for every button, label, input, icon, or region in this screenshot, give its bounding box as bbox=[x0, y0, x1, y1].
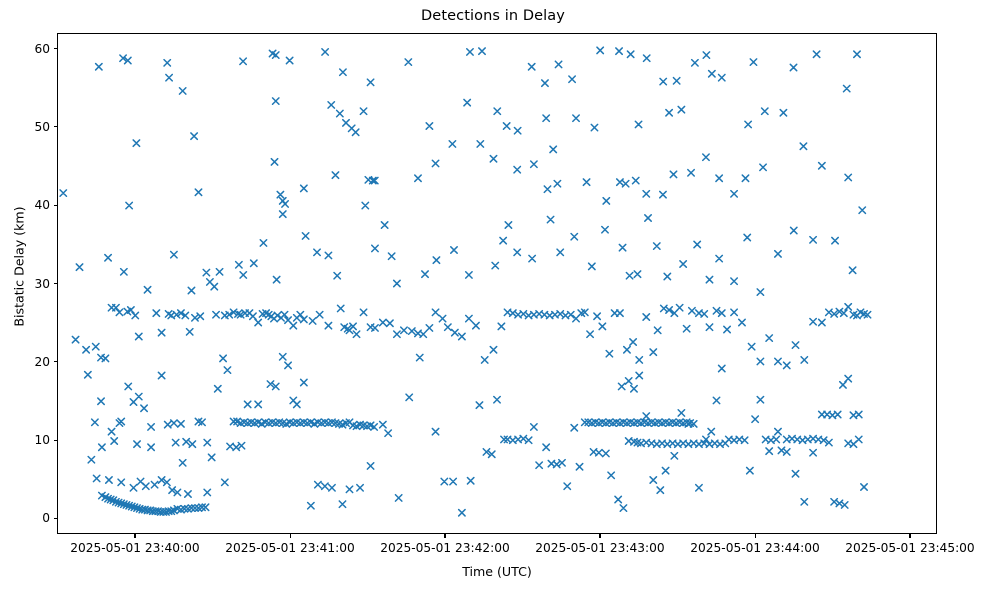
y-tick-mark bbox=[54, 48, 58, 49]
y-tick-mark bbox=[54, 205, 58, 206]
x-tick-label: 2025-05-01 23:41:00 bbox=[225, 540, 354, 556]
x-tick-label: 2025-05-01 23:40:00 bbox=[70, 540, 199, 556]
scatter-points-group bbox=[60, 47, 871, 516]
x-tick-mark bbox=[290, 534, 291, 538]
x-tick-label: 2025-05-01 23:43:00 bbox=[535, 540, 664, 556]
y-axis-label: Bistatic Delay (km) bbox=[12, 137, 27, 397]
x-tick-label: 2025-05-01 23:45:00 bbox=[845, 540, 974, 556]
x-tick-label: 2025-05-01 23:44:00 bbox=[690, 540, 819, 556]
y-tick-mark bbox=[54, 440, 58, 441]
y-tick-label: 40 bbox=[34, 196, 50, 214]
x-tick-mark bbox=[444, 534, 445, 538]
y-tick-label: 10 bbox=[34, 431, 50, 449]
scatter-marker-layer bbox=[58, 34, 936, 533]
y-tick-label: 0 bbox=[42, 509, 50, 527]
x-tick-label: 2025-05-01 23:42:00 bbox=[380, 540, 509, 556]
matplotlib-figure: Detections in Delay 0102030405060 2025-0… bbox=[0, 0, 986, 590]
x-tick-mark bbox=[909, 534, 910, 538]
scatter-marker-path bbox=[60, 47, 871, 516]
plot-axes-area bbox=[57, 33, 937, 534]
y-tick-mark bbox=[54, 126, 58, 127]
y-tick-mark bbox=[54, 518, 58, 519]
y-tick-label: 50 bbox=[34, 118, 50, 136]
y-tick-mark bbox=[54, 283, 58, 284]
chart-title: Detections in Delay bbox=[0, 8, 986, 24]
x-tick-mark bbox=[599, 534, 600, 538]
y-tick-label: 30 bbox=[34, 275, 50, 293]
x-tick-mark bbox=[755, 534, 756, 538]
y-tick-label: 20 bbox=[34, 353, 50, 371]
x-axis-label: Time (UTC) bbox=[57, 564, 937, 579]
y-tick-mark bbox=[54, 361, 58, 362]
y-tick-label: 60 bbox=[34, 40, 50, 58]
x-tick-mark bbox=[134, 534, 135, 538]
